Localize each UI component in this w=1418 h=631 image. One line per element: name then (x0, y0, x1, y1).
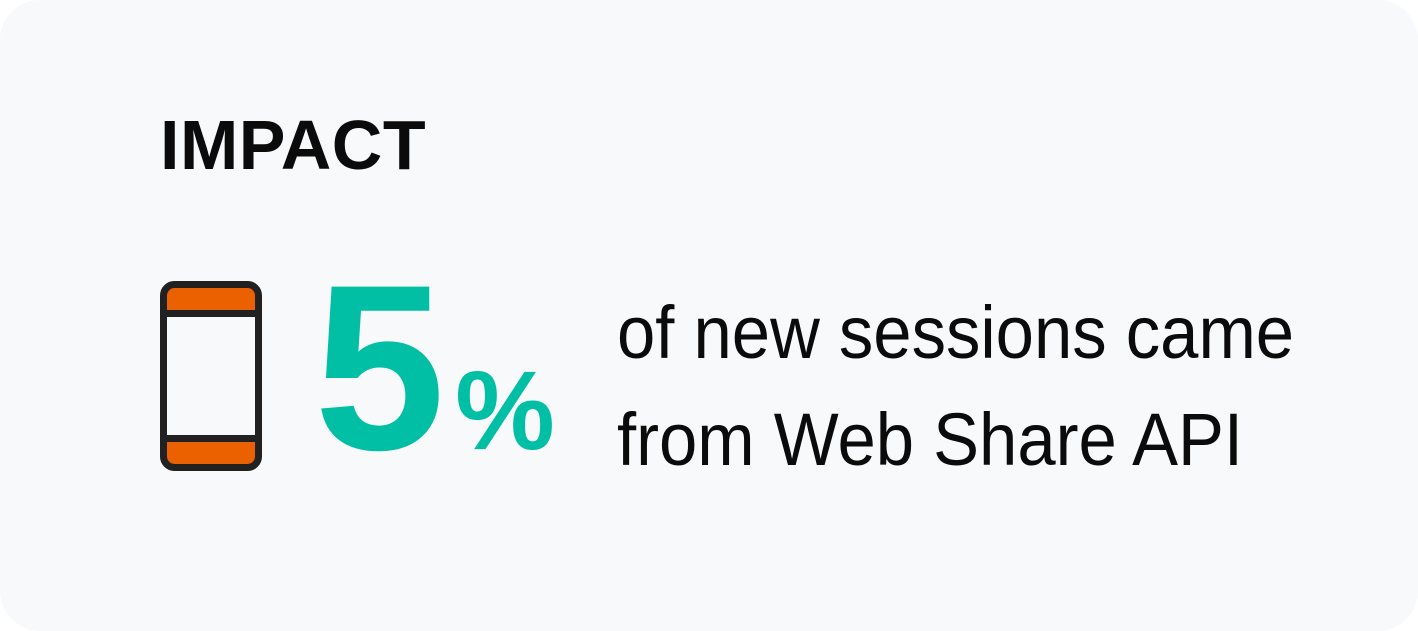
stat-figure: 5 % (314, 268, 555, 468)
mobile-phone-icon (160, 281, 262, 471)
stat-description-line-2: from Web Share API (617, 386, 1287, 493)
stat-value: 5 (314, 268, 441, 468)
stat-unit: % (455, 311, 555, 511)
page-title: IMPACT (160, 110, 426, 180)
stat-description: of new sessions came from Web Share API (617, 279, 1287, 493)
stat-description-line-1: of new sessions came (617, 279, 1287, 386)
impact-card: IMPACT 5 % of new sessions came from Web… (0, 0, 1418, 631)
